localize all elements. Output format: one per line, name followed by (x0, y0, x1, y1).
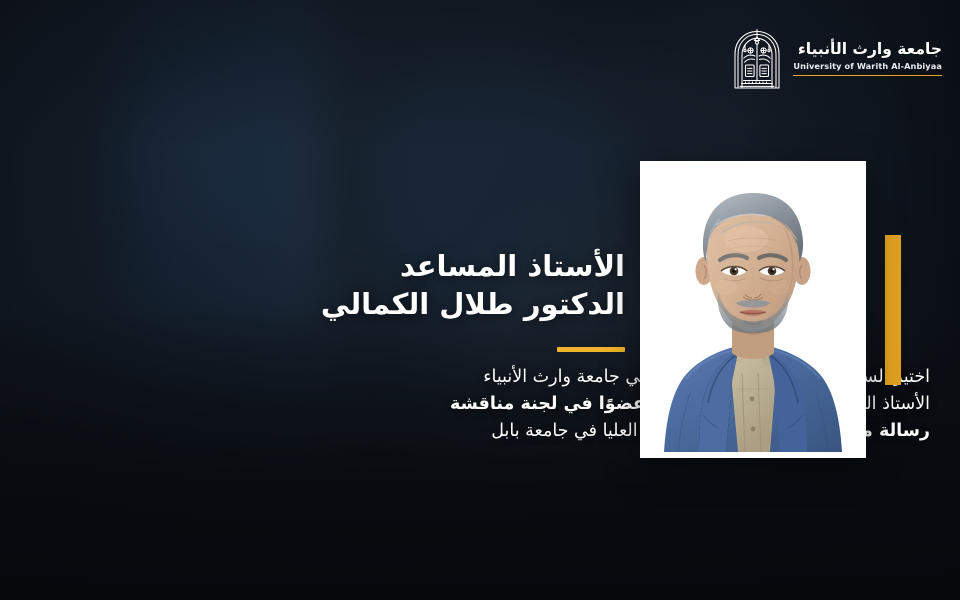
page-title-line-1: الأستاذ المساعد (330, 248, 625, 286)
portrait-gold-accent-bar (885, 235, 901, 385)
portrait-frame (640, 161, 866, 458)
brand-name-arabic: جامعة وارث الأنبياء (793, 40, 942, 59)
title-gold-divider (557, 347, 625, 352)
university-brand-lockup[interactable]: جامعة وارث الأنبياء University of Warith… (731, 28, 942, 90)
page-title-line-2: الدكتور طلال الكمالي (330, 286, 625, 324)
brand-gold-rule (793, 75, 942, 77)
avatar (646, 167, 860, 452)
brand-name-english: University of Warith Al-Anbiyaa (793, 61, 942, 72)
page-title: الأستاذ المساعد الدكتور طلال الكمالي (330, 248, 625, 323)
brand-wordmark: جامعة وارث الأنبياء University of Warith… (793, 40, 942, 79)
announcement-line-2-emphasis: عضوًا في لجنة مناقشة (450, 394, 645, 414)
shrine-dome-emblem-icon (731, 28, 783, 90)
announcement-banner: جامعة وارث الأنبياء University of Warith… (0, 0, 960, 600)
